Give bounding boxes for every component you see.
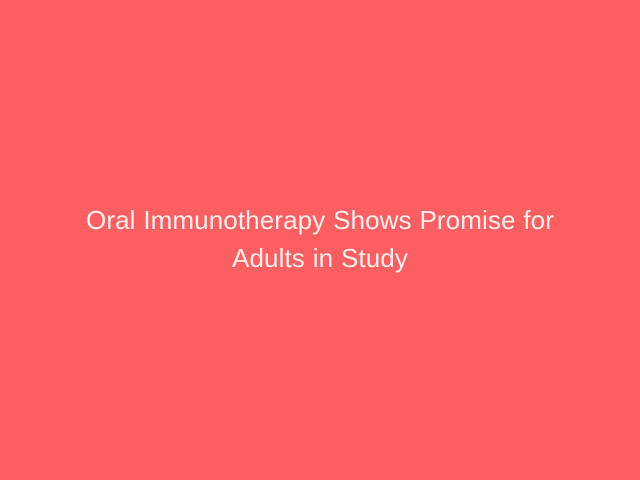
- article-headline: Oral Immunotherapy Shows Promise for Adu…: [48, 201, 592, 277]
- article-placeholder-card: Oral Immunotherapy Shows Promise for Adu…: [0, 0, 640, 480]
- headline-block: Oral Immunotherapy Shows Promise for Adu…: [40, 201, 600, 277]
